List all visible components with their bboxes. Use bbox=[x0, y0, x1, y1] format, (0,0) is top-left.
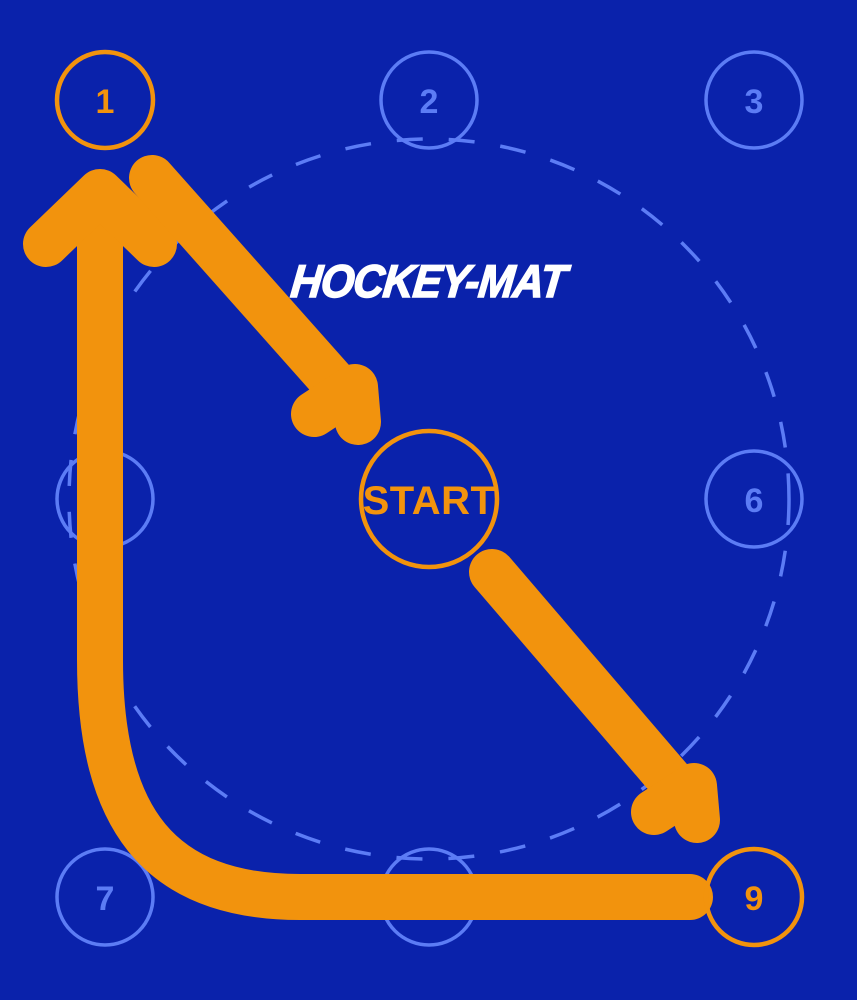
route-nine-to-one-curve bbox=[100, 230, 690, 897]
board-canvas: 2 3 4 6 7 8 1 9 bbox=[0, 0, 857, 1000]
node-label-9: 9 bbox=[745, 880, 764, 918]
node-label-2: 2 bbox=[420, 83, 439, 121]
route-arrowhead-down-right-upper bbox=[314, 387, 358, 422]
node-label-1: 1 bbox=[96, 83, 115, 121]
node-label-6: 6 bbox=[745, 482, 764, 520]
route-one-to-start-shaft bbox=[152, 178, 336, 385]
route-start-to-nine-shaft bbox=[492, 572, 672, 782]
node-label-3: 3 bbox=[745, 83, 764, 121]
start-node[interactable]: START bbox=[361, 431, 497, 567]
hockey-mat-board: 2 3 4 6 7 8 1 9 bbox=[0, 0, 857, 1000]
route-arrowhead-down-right-lower bbox=[654, 786, 697, 820]
start-label: START bbox=[363, 479, 496, 523]
node-label-7: 7 bbox=[96, 880, 115, 918]
